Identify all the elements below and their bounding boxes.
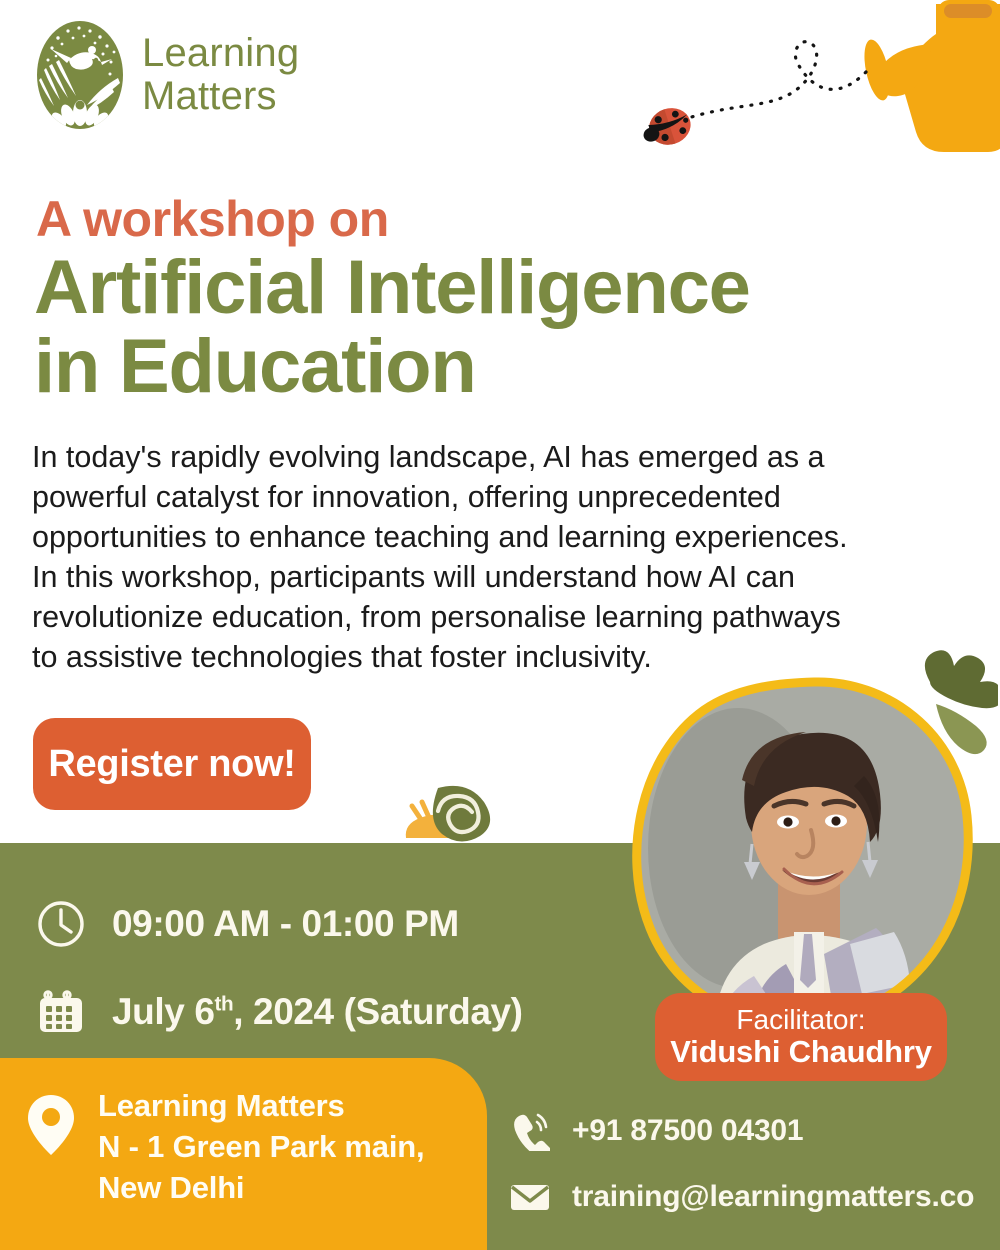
facilitator-role-label: Facilitator: [736,1004,865,1035]
event-details-list: 09:00 AM - 01:00 PM July 6th, 2024 (Satu… [36,880,596,1056]
date-suffix: , 2024 (Saturday) [233,991,522,1032]
brand-name-line2: Matters [142,75,299,118]
brand-name: Learning Matters [142,32,299,118]
dotted-trail-icon [682,42,866,120]
page-title-line2: in Education [34,327,934,406]
address-line-2: N - 1 Green Park main, [98,1127,424,1168]
description-line-3: opportunities to enhance teaching and le… [32,518,987,558]
description-line-2: powerful catalyst for innovation, offeri… [32,478,987,518]
facilitator-photo-block [618,648,998,1048]
page-title-line1: Artificial Intelligence [34,248,934,327]
description-paragraph: In today's rapidly evolving landscape, A… [32,438,987,678]
clock-icon [36,899,86,949]
contact-block: +91 87500 04301 training@learningmatters… [510,1098,974,1230]
date-prefix: July 6 [112,991,215,1032]
address-line-1: Learning Matters [98,1086,424,1127]
brand-name-line1: Learning [142,32,299,75]
time-value: 09:00 AM - 01:00 PM [112,903,459,945]
address-text: Learning Matters N - 1 Green Park main, … [98,1086,424,1209]
calendar-icon [36,987,86,1037]
description-line-5: revolutionize education, from personalis… [32,598,987,638]
phone-row[interactable]: +91 87500 04301 [510,1098,974,1164]
address-line-3: New Delhi [98,1168,424,1209]
facilitator-name: Vidushi Chaudhry [670,1035,931,1070]
facilitator-portrait [618,648,998,1048]
date-ordinal: th [215,993,234,1016]
time-row: 09:00 AM - 01:00 PM [36,880,596,968]
address-panel: Learning Matters N - 1 Green Park main, … [0,1058,487,1250]
phone-icon [510,1111,550,1151]
map-pin-icon [28,1094,74,1156]
envelope-icon [510,1177,550,1217]
snail-icon [398,778,508,848]
phone-number: +91 87500 04301 [572,1114,803,1148]
page-title: Artificial Intelligence in Education [34,248,934,406]
workshop-poster: Learning Matters A worksh [0,0,1000,1250]
date-row: July 6th, 2024 (Saturday) [36,968,596,1056]
eyebrow-text: A workshop on [36,190,389,248]
ladybug-icon [638,103,696,152]
description-line-4: In this workshop, participants will unde… [32,558,987,598]
email-address: training@learningmatters.co [572,1180,974,1214]
watering-can-icon [860,0,1000,152]
facilitator-badge: Facilitator: Vidushi Chaudhry [655,993,947,1081]
brand-logo: Learning Matters [32,16,299,134]
date-value: July 6th, 2024 (Saturday) [112,991,523,1033]
description-line-1: In today's rapidly evolving landscape, A… [32,438,987,478]
watering-can-decoration [620,0,1000,192]
email-row[interactable]: training@learningmatters.co [510,1164,974,1230]
register-now-button[interactable]: Register now! [33,718,311,810]
egg-botanical-logo-icon [32,16,128,134]
